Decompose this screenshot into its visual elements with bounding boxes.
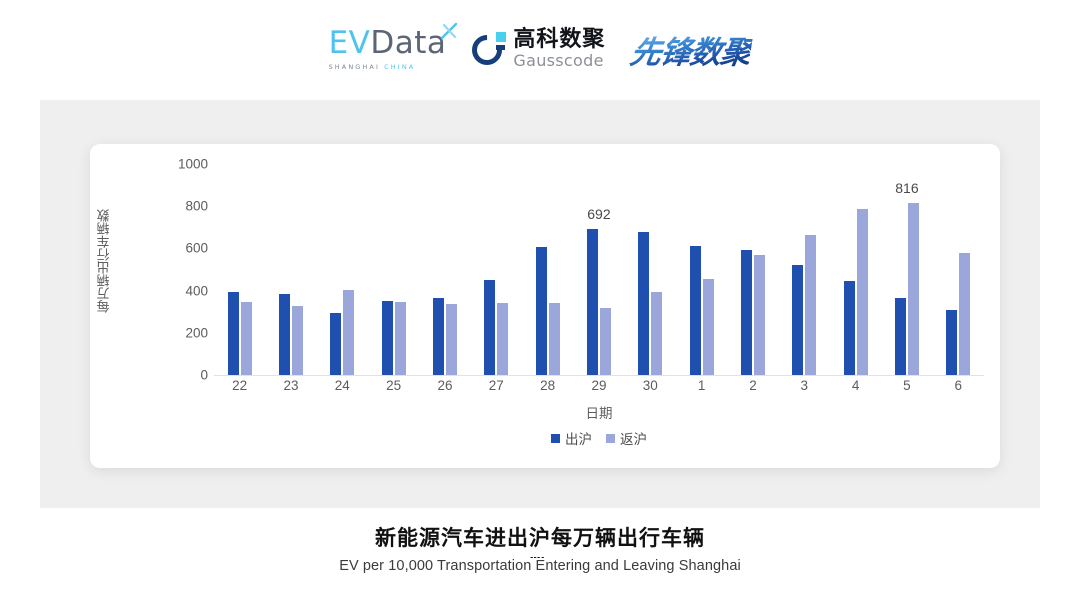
x-tick-label: 4 xyxy=(830,378,881,393)
y-tick-label: 0 xyxy=(162,368,208,383)
bar-group: 816 xyxy=(881,164,932,375)
evdata-tagline-country: CHINA xyxy=(384,63,415,71)
bar-group xyxy=(522,164,573,375)
evdata-tagline: SHANGHAI CHINA xyxy=(329,63,416,71)
bar-出沪-29[interactable] xyxy=(587,229,598,375)
bar-出沪-4[interactable] xyxy=(844,281,855,375)
evdata-data-text: Data xyxy=(370,25,446,61)
x-tick-label: 24 xyxy=(317,378,368,393)
bar-group xyxy=(727,164,778,375)
caption-block: 数 新能源汽车进出沪每万辆出行车辆 EV per 10,000 Transpor… xyxy=(0,525,1080,575)
bar-group xyxy=(368,164,419,375)
y-tick-label: 1000 xyxy=(162,157,208,172)
bar-出沪-23[interactable] xyxy=(279,294,290,375)
bar-chart: 每万辆出行车辆数 10008006004002000 692816 222324… xyxy=(90,144,1000,468)
bar-group xyxy=(830,164,881,375)
evdata-ev-text: EV xyxy=(329,25,371,61)
bar-出沪-30[interactable] xyxy=(638,232,649,375)
y-tick-label: 800 xyxy=(162,199,208,214)
x-tick-label: 1 xyxy=(676,378,727,393)
x-tick-label: 26 xyxy=(419,378,470,393)
xianfeng-logo: 先锋数聚 xyxy=(628,27,755,72)
bar-返沪-30[interactable] xyxy=(651,292,662,375)
bar-返沪-6[interactable] xyxy=(959,253,970,375)
bar-返沪-5[interactable] xyxy=(908,203,919,375)
y-axis-title: 每万辆出行车辆数 xyxy=(94,168,114,354)
bar-返沪-22[interactable] xyxy=(241,302,252,375)
bar-出沪-5[interactable] xyxy=(895,298,906,375)
bar-返沪-3[interactable] xyxy=(805,235,816,375)
legend-label: 返沪 xyxy=(620,428,647,448)
bar-group xyxy=(933,164,984,375)
x-tick-label: 5 xyxy=(881,378,932,393)
bar-group xyxy=(625,164,676,375)
bar-返沪-29[interactable] xyxy=(600,308,611,375)
bar-返沪-4[interactable] xyxy=(857,209,868,375)
bar-groups: 692816 xyxy=(214,164,984,375)
chart-legend: 出沪返沪 xyxy=(214,428,984,448)
bar-返沪-24[interactable] xyxy=(343,290,354,375)
bar-group xyxy=(779,164,830,375)
x-axis-title: 日期 xyxy=(214,402,984,422)
bar-group xyxy=(419,164,470,375)
y-tick-label: 400 xyxy=(162,283,208,298)
gausscode-en-name: Gausscode xyxy=(513,53,605,69)
bar-出沪-25[interactable] xyxy=(382,301,393,375)
x-tick-label: 29 xyxy=(573,378,624,393)
bar-出沪-26[interactable] xyxy=(433,298,444,375)
bar-返沪-27[interactable] xyxy=(497,303,508,375)
bar-返沪-2[interactable] xyxy=(754,255,765,375)
x-tick-label: 25 xyxy=(368,378,419,393)
x-tick-label: 23 xyxy=(265,378,316,393)
bar-出沪-6[interactable] xyxy=(946,310,957,375)
bar-出沪-24[interactable] xyxy=(330,313,341,375)
evdata-logo: EVData SHANGHAI CHINA xyxy=(329,28,447,71)
bar-group xyxy=(471,164,522,375)
legend-swatch-icon xyxy=(551,434,560,443)
y-axis-ticks: 10008006004002000 xyxy=(156,144,208,468)
bar-出沪-3[interactable] xyxy=(792,265,803,375)
gausscode-cn-name: 高科数聚 xyxy=(513,29,605,51)
x-axis-ticks: 222324252627282930123456 xyxy=(214,378,984,393)
bar-value-label: 692 xyxy=(587,206,610,222)
bar-返沪-23[interactable] xyxy=(292,306,303,375)
bar-出沪-28[interactable] xyxy=(536,247,547,375)
legend-item-出沪[interactable]: 出沪 xyxy=(551,428,592,448)
bar-出沪-22[interactable] xyxy=(228,292,239,375)
bar-出沪-2[interactable] xyxy=(741,250,752,375)
zero-baseline xyxy=(214,375,984,376)
chart-card: 每万辆出行车辆数 10008006004002000 692816 222324… xyxy=(90,144,1000,468)
legend-swatch-icon xyxy=(606,434,615,443)
bar-value-label: 816 xyxy=(895,180,918,196)
bar-group xyxy=(317,164,368,375)
bar-group: 692 xyxy=(573,164,624,375)
evdata-wordmark: EVData xyxy=(329,28,447,59)
y-tick-label: 200 xyxy=(162,325,208,340)
bar-group xyxy=(676,164,727,375)
x-tick-label: 30 xyxy=(625,378,676,393)
bar-返沪-26[interactable] xyxy=(446,304,457,375)
x-sparkle-icon xyxy=(439,21,459,41)
bar-group xyxy=(265,164,316,375)
x-tick-label: 3 xyxy=(779,378,830,393)
x-tick-label: 27 xyxy=(471,378,522,393)
bar-group xyxy=(214,164,265,375)
y-tick-label: 600 xyxy=(162,241,208,256)
bar-返沪-1[interactable] xyxy=(703,279,714,375)
bar-出沪-1[interactable] xyxy=(690,246,701,375)
legend-item-返沪[interactable]: 返沪 xyxy=(606,428,647,448)
legend-label: 出沪 xyxy=(565,428,592,448)
caption-title: 新能源汽车进出沪每万辆出行车辆 xyxy=(0,525,1080,553)
bar-出沪-27[interactable] xyxy=(484,280,495,375)
x-tick-label: 6 xyxy=(933,378,984,393)
logo-bar: EVData SHANGHAI CHINA 高科数聚 Gausscode 先锋数… xyxy=(0,18,1080,80)
evdata-tagline-city: SHANGHAI xyxy=(329,63,380,71)
x-tick-label: 2 xyxy=(727,378,778,393)
gausscode-logo: 高科数聚 Gausscode xyxy=(472,29,605,69)
g-circle-icon xyxy=(472,32,506,66)
caption-subtitle: EV per 10,000 Transportation Entering an… xyxy=(335,558,745,574)
x-tick-label: 22 xyxy=(214,378,265,393)
x-tick-label: 28 xyxy=(522,378,573,393)
bar-返沪-25[interactable] xyxy=(395,302,406,375)
bar-返沪-28[interactable] xyxy=(549,303,560,375)
